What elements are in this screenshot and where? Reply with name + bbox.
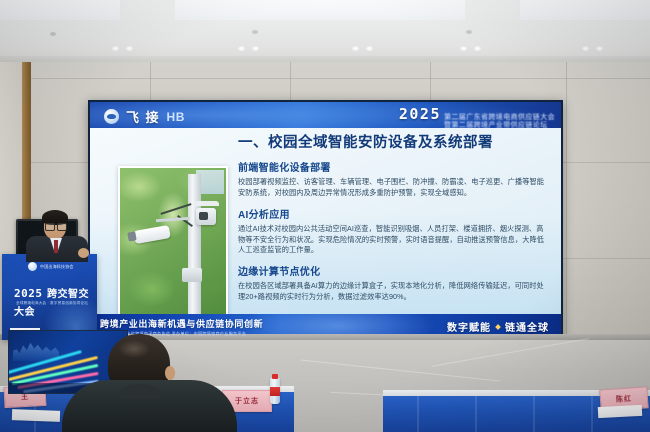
section-heading: 前端智能化设备部署: [238, 159, 550, 174]
camera-sun-hood: [194, 201, 219, 206]
slide-section: 边缘计算节点优化 在校园各区域部署具备AI算力的边缘计算盒子，实现本地化分析，降…: [238, 263, 550, 303]
equipment-enclosure: [182, 268, 202, 282]
glasses-icon: [45, 223, 55, 231]
downlight-icon: [582, 46, 589, 51]
name-card-text: 于立志: [235, 396, 259, 406]
slogan-part-2: 链通全球: [505, 319, 549, 334]
speaker-hand: [78, 248, 89, 258]
attendee-collar: [120, 384, 160, 398]
bottle-label: [270, 387, 280, 396]
slide-body: 一、校园全域智能安防设备及系统部署 前端智能化设备部署 校园部署视频监控、访客管…: [90, 128, 561, 314]
section-body: 通过AI技术对校园内公共活动空间AI巡查，智能识别吸烟、人员打架、楼道拥挤、烟火…: [238, 224, 550, 256]
section-body: 在校园各区域部署具备AI算力的边缘计算盒子，实现本地化分析，降低网络传输延迟，可…: [238, 281, 550, 303]
presentation-screen: 飞 接 HB 2025 第二届广东省跨境电商供应链大会 暨第二届跨境产业带供应链…: [88, 100, 563, 340]
downlight-icon: [126, 46, 133, 51]
slide-text-column: 一、校园全域智能安防设备及系统部署 前端智能化设备部署 校园部署视频监控、访客管…: [238, 134, 550, 303]
ceiling-vent: [50, 32, 56, 36]
brand-logo-primary: 飞 接: [126, 107, 160, 126]
downlight-icon: [460, 46, 467, 51]
downlight-icon: [252, 46, 259, 51]
slide-section: 前端智能化设备部署 校园部署视频监控、访客管理、车辆管理、电子围栏、防冲撞、防霸…: [238, 159, 550, 199]
event-name-line1: 第二届广东省跨境电商供应链大会: [444, 114, 555, 122]
lectern-logo: 中国出海科技协会: [28, 262, 74, 271]
downlight-icon: [352, 46, 359, 51]
lectern-subtitle: 全球跨境电商大会 · 数字贸易创新协同论坛: [16, 301, 88, 306]
section-heading: AI分析应用: [238, 206, 550, 221]
document-sheet: [598, 405, 643, 418]
event-name-line2: 暨第二届跨境产业带供应链论坛: [444, 122, 555, 128]
camera-pole: [188, 174, 201, 323]
brand-logo-secondary: HB: [167, 110, 185, 124]
slogan-part-1: 数字赋能: [447, 319, 491, 334]
diamond-separator-icon: [495, 324, 501, 330]
slide-section: AI分析应用 通过AI技术对校园内公共活动空间AI巡查，智能识别吸烟、人员打架、…: [238, 206, 550, 256]
lectern-year: 2025: [14, 287, 43, 300]
document-sheet: [12, 409, 60, 422]
glasses-icon: [57, 223, 67, 231]
attendee-hair-highlight: [118, 340, 150, 358]
slide-title: 一、校园全域智能安防设备及系统部署: [238, 134, 550, 152]
conference-room-photo: 飞 接 HB 2025 第二届广东省跨境电商供应链大会 暨第二届跨境产业带供应链…: [0, 0, 650, 432]
camera-lens-icon: [199, 212, 208, 220]
downlight-icon: [474, 46, 481, 51]
downlight-icon: [112, 46, 119, 51]
bottle-cap: [272, 374, 278, 379]
ceiling-vent: [252, 30, 258, 34]
lectern-org-text: 中国出海科技协会: [40, 264, 74, 270]
organization-emblem-icon: [28, 262, 37, 271]
slide-photo-security-camera: [118, 166, 228, 325]
section-heading: 边缘计算节点优化: [238, 263, 550, 278]
organization-emblem-icon: [104, 109, 119, 124]
event-year: 2025: [399, 105, 441, 123]
footer-right-slogan: 数字赋能 链通全球: [447, 319, 549, 334]
slide-surface: 飞 接 HB 2025 第二届广东省跨境电商供应链大会 暨第二届跨境产业带供应链…: [90, 102, 561, 338]
slide-header-event: 2025 第二届广东省跨境电商供应链大会 暨第二届跨境产业带供应链论坛: [399, 105, 555, 128]
slide-header: 飞 接 HB 2025 第二届广东省跨境电商供应链大会 暨第二届跨境产业带供应链…: [90, 102, 561, 128]
ceiling: [0, 0, 650, 62]
downlight-icon: [366, 46, 373, 51]
camera-lens-icon: [127, 231, 136, 241]
downlight-icon: [238, 46, 245, 51]
lectern: 中国出海科技协会 2025 跨交智交大会 全球跨境电商大会 · 数字贸易创新协同…: [2, 254, 97, 340]
slide-header-logos: 飞 接 HB: [104, 107, 185, 126]
footer-theme: 跨境产业出海新机遇与供应链协同创新: [100, 317, 263, 330]
attendee-ear: [165, 366, 175, 380]
section-body: 校园部署视频监控、访客管理、车辆管理、电子围栏、防冲撞、防霸凌、电子巡更、广播等…: [238, 177, 550, 199]
water-bottle: [270, 378, 280, 404]
downlight-icon: [596, 46, 603, 51]
name-card-text: 陈红: [616, 393, 633, 404]
ceiling-vent: [466, 30, 472, 34]
speaker-tie: [54, 240, 58, 253]
